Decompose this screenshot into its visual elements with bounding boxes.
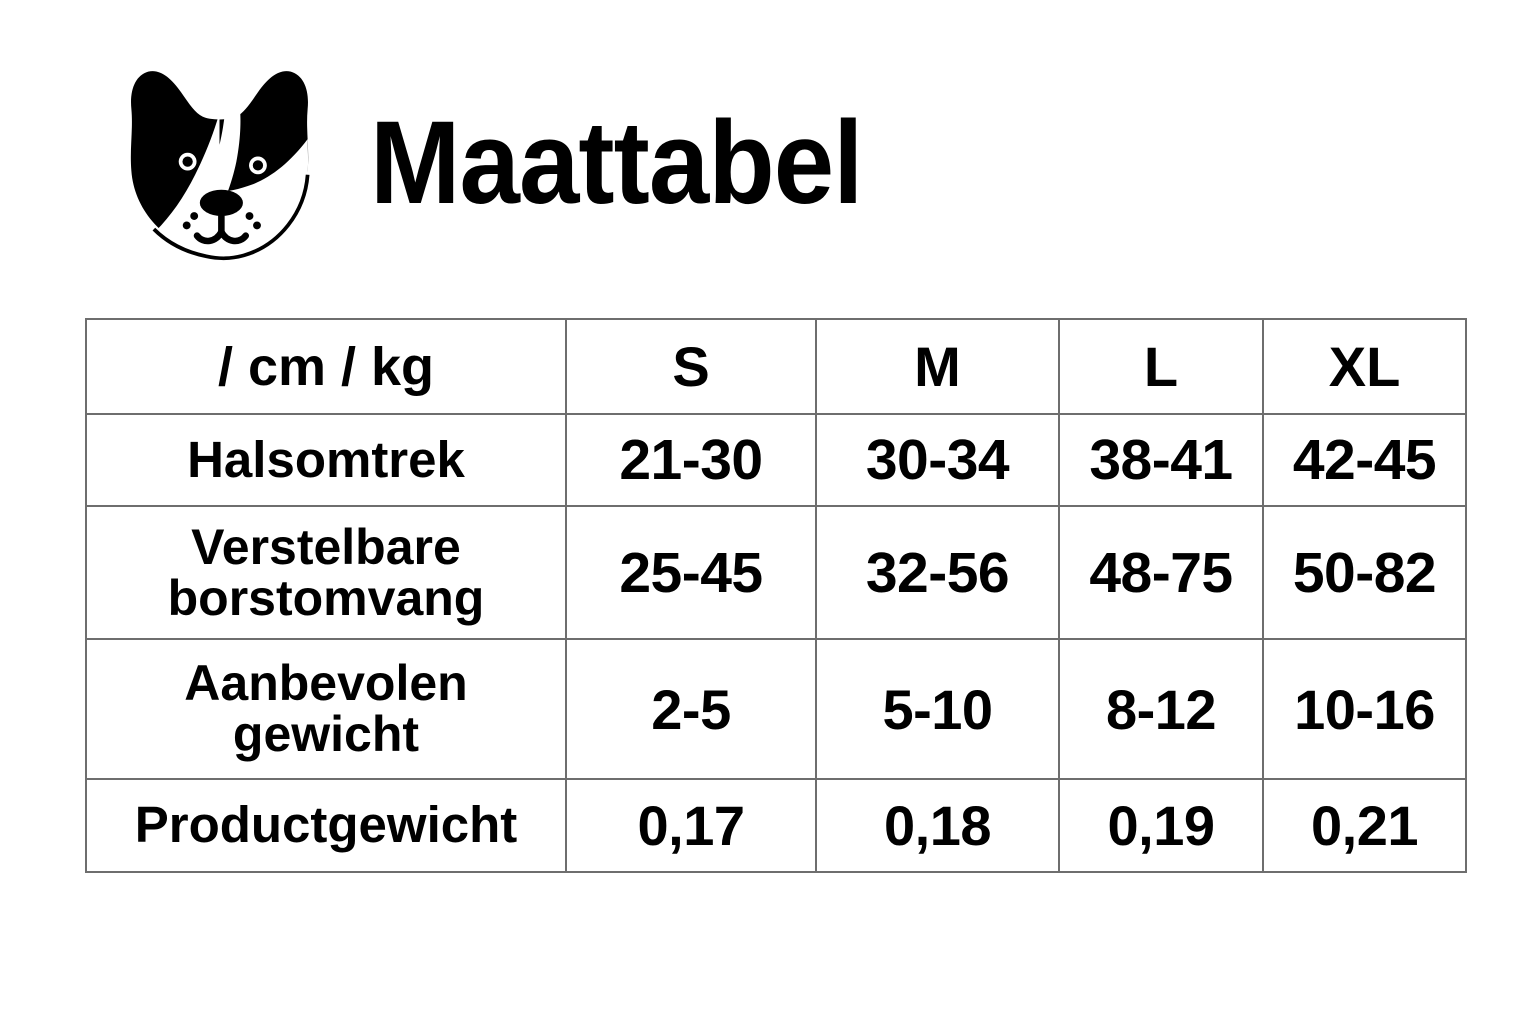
row-label-verstelbare-borstomvang: Verstelbare borstomvang	[86, 506, 566, 639]
column-header-xl: XL	[1263, 319, 1466, 414]
cell-productgewicht-l: 0,19	[1059, 779, 1263, 872]
column-header-s: S	[566, 319, 816, 414]
size-chart-page: Maattabel / cm / kg S M L XL	[0, 0, 1536, 1024]
dog-head-icon	[107, 51, 332, 276]
row-label-line-1: Verstelbare	[93, 522, 559, 573]
cell-borstomvang-s: 25-45	[566, 506, 816, 639]
row-label-line-2: gewicht	[93, 709, 559, 760]
table-row: Halsomtrek 21-30 30-34 38-41 42-45	[86, 414, 1466, 506]
row-label-productgewicht: Productgewicht	[86, 779, 566, 872]
cell-halsomtrek-xl: 42-45	[1263, 414, 1466, 506]
cell-gewicht-m: 5-10	[816, 639, 1059, 779]
cell-gewicht-xl: 10-16	[1263, 639, 1466, 779]
table-row: Productgewicht 0,17 0,18 0,19 0,21	[86, 779, 1466, 872]
column-header-m: M	[816, 319, 1059, 414]
cell-borstomvang-xl: 50-82	[1263, 506, 1466, 639]
size-chart-table-wrapper: / cm / kg S M L XL Halsomtrek 21-30 30-3…	[85, 318, 1465, 871]
cell-halsomtrek-s: 21-30	[566, 414, 816, 506]
row-label-line-2: borstomvang	[93, 573, 559, 624]
row-label-line-1: Aanbevolen	[93, 658, 559, 709]
column-header-l: L	[1059, 319, 1263, 414]
cell-gewicht-l: 8-12	[1059, 639, 1263, 779]
table-header-row: / cm / kg S M L XL	[86, 319, 1466, 414]
size-chart-table: / cm / kg S M L XL Halsomtrek 21-30 30-3…	[85, 318, 1467, 873]
cell-gewicht-s: 2-5	[566, 639, 816, 779]
table-row: Aanbevolen gewicht 2-5 5-10 8-12 10-16	[86, 639, 1466, 779]
cell-productgewicht-m: 0,18	[816, 779, 1059, 872]
cell-borstomvang-l: 48-75	[1059, 506, 1263, 639]
column-header-unit: / cm / kg	[86, 319, 566, 414]
cell-productgewicht-xl: 0,21	[1263, 779, 1466, 872]
row-label-halsomtrek: Halsomtrek	[86, 414, 566, 506]
cell-halsomtrek-l: 38-41	[1059, 414, 1263, 506]
row-label-aanbevolen-gewicht: Aanbevolen gewicht	[86, 639, 566, 779]
cell-productgewicht-s: 0,17	[566, 779, 816, 872]
page-header: Maattabel	[85, 48, 905, 278]
table-row: Verstelbare borstomvang 25-45 32-56 48-7…	[86, 506, 1466, 639]
page-title: Maattabel	[370, 104, 862, 222]
cell-halsomtrek-m: 30-34	[816, 414, 1059, 506]
cell-borstomvang-m: 32-56	[816, 506, 1059, 639]
